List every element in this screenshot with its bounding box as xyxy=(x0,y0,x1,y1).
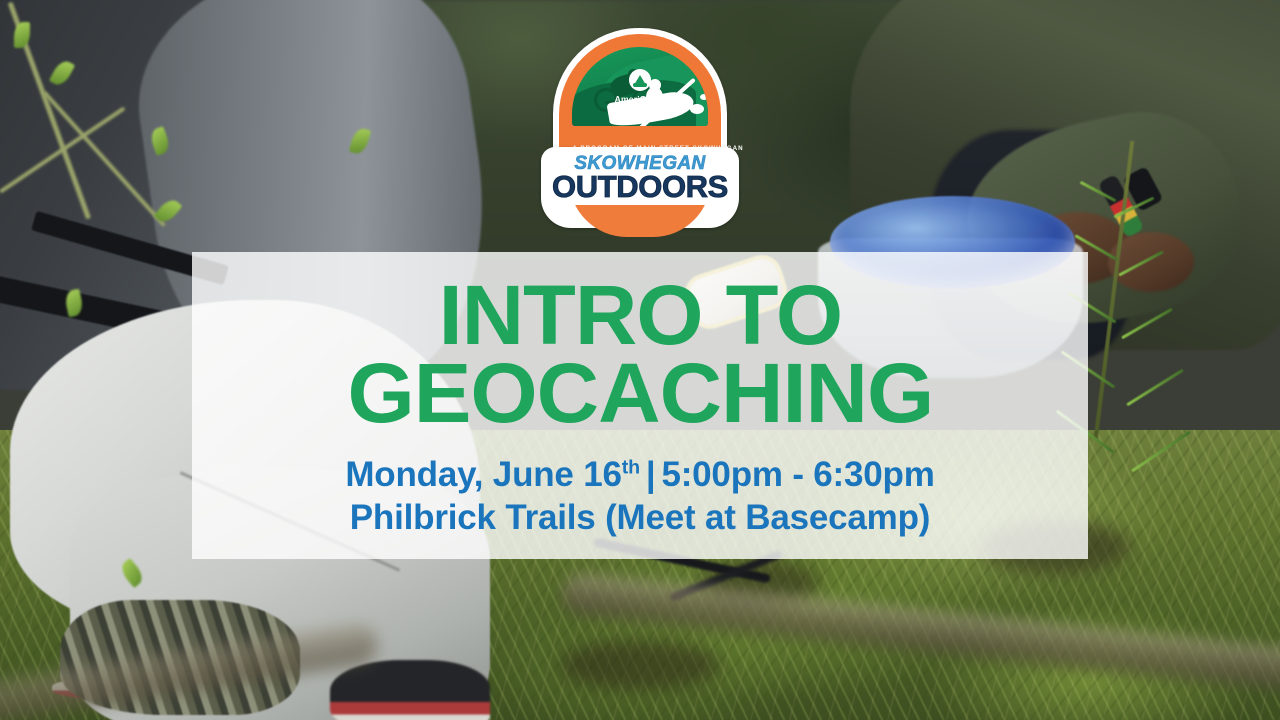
americorps-badge: AmeriCorps xyxy=(600,69,680,104)
event-title-line-1: INTRO TO xyxy=(347,276,933,354)
americorps-mark-icon xyxy=(629,69,651,91)
logo-wordmark-plate: SKOWHEGAN OUTDOORS xyxy=(541,147,739,228)
logo-dome-orange-ring: AmeriCorps A PROGRAM OF MAIN STREET SKOW… xyxy=(559,34,721,151)
detail-separator: | xyxy=(640,455,662,494)
skowhegan-outdoors-logo: AmeriCorps A PROGRAM OF MAIN STREET SKOW… xyxy=(541,28,739,228)
striped-sneaker-second xyxy=(330,660,490,720)
sapling-needle xyxy=(1126,369,1184,407)
event-details: Monday, June 16th|5:00pm - 6:30pm Philbr… xyxy=(345,454,934,539)
logo-wordmark-outdoors: OUTDOORS xyxy=(541,169,739,205)
event-time: 5:00pm - 6:30pm xyxy=(661,455,934,494)
event-info-panel: INTRO TO GEOCACHING Monday, June 16th|5:… xyxy=(192,252,1088,559)
event-title-line-2: GEOCACHING xyxy=(347,354,933,432)
event-datetime-line: Monday, June 16th|5:00pm - 6:30pm xyxy=(345,454,934,497)
soil-patch xyxy=(560,640,720,690)
logo-dome-outer: AmeriCorps A PROGRAM OF MAIN STREET SKOW… xyxy=(553,28,727,156)
event-date: Monday, June 16 xyxy=(345,455,621,494)
americorps-label: AmeriCorps xyxy=(600,94,680,104)
date-ordinal-suffix: th xyxy=(622,457,640,479)
event-title: INTRO TO GEOCACHING xyxy=(347,276,933,432)
logo-dome-green-field: AmeriCorps xyxy=(572,47,708,126)
event-location: Philbrick Trails (Meet at Basecamp) xyxy=(345,497,934,540)
logo-swoosh xyxy=(563,205,717,245)
